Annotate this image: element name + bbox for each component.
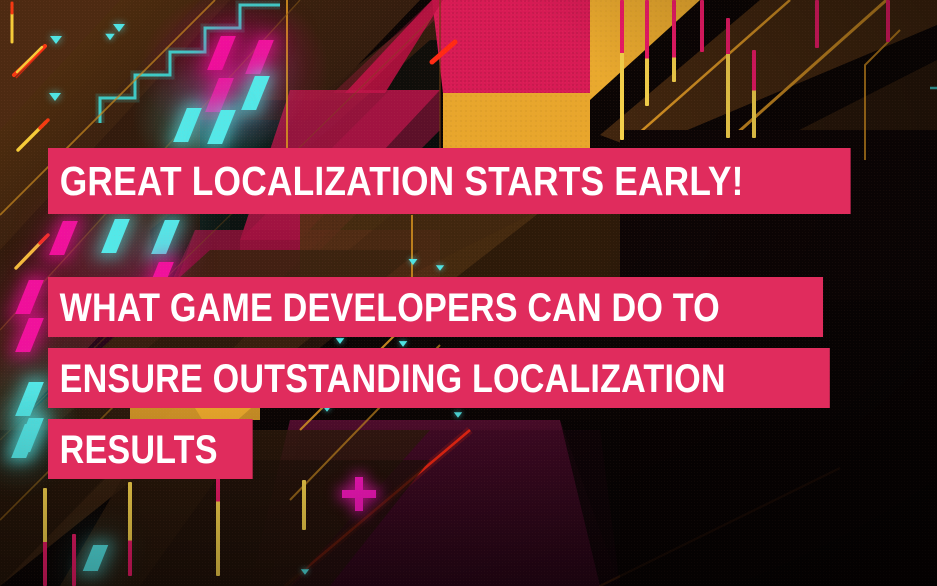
stripe-6 <box>752 50 756 138</box>
stripe-13 <box>302 480 306 530</box>
triangle-icon-11 <box>301 569 309 575</box>
stripe-1 <box>620 0 624 140</box>
subheadline-line-3: RESULTS <box>48 419 253 479</box>
triangle-icon-4 <box>49 93 61 101</box>
stripe-4 <box>700 0 704 52</box>
stripe-5 <box>726 18 730 138</box>
stripe-3 <box>672 0 676 82</box>
subheadline-line-2: ENSURE OUTSTANDING LOCALIZATION <box>48 348 830 408</box>
triangle-icon-5 <box>409 259 418 265</box>
triangle-icon-1 <box>50 36 62 44</box>
stripe-7 <box>815 0 819 48</box>
stripe-12 <box>216 478 220 576</box>
triangle-icon-2 <box>113 24 125 32</box>
stripe-8 <box>886 0 890 42</box>
subheadline-line-2-text: ENSURE OUTSTANDING LOCALIZATION <box>60 359 726 399</box>
stripe-11 <box>128 482 132 576</box>
triangle-icon-3 <box>105 34 115 40</box>
subheadline-line-1-text: WHAT GAME DEVELOPERS CAN DO TO <box>60 288 720 328</box>
headline-text: GREAT LOCALIZATION STARTS EARLY! <box>60 161 744 202</box>
triangle-icon-6 <box>436 265 444 271</box>
page-title: GREAT LOCALIZATION STARTS EARLY! <box>48 148 851 214</box>
poster-canvas: GREAT LOCALIZATION STARTS EARLY! WHAT GA… <box>0 0 937 586</box>
stripe-9 <box>43 488 47 586</box>
stripe-10 <box>72 534 76 586</box>
subheadline-line-1: WHAT GAME DEVELOPERS CAN DO TO <box>48 277 823 337</box>
plus-marker-icon <box>342 477 376 511</box>
stripe-2 <box>645 0 649 106</box>
subheadline-block: WHAT GAME DEVELOPERS CAN DO TO ENSURE OU… <box>48 277 854 479</box>
subheadline-line-3-text: RESULTS <box>60 430 218 470</box>
